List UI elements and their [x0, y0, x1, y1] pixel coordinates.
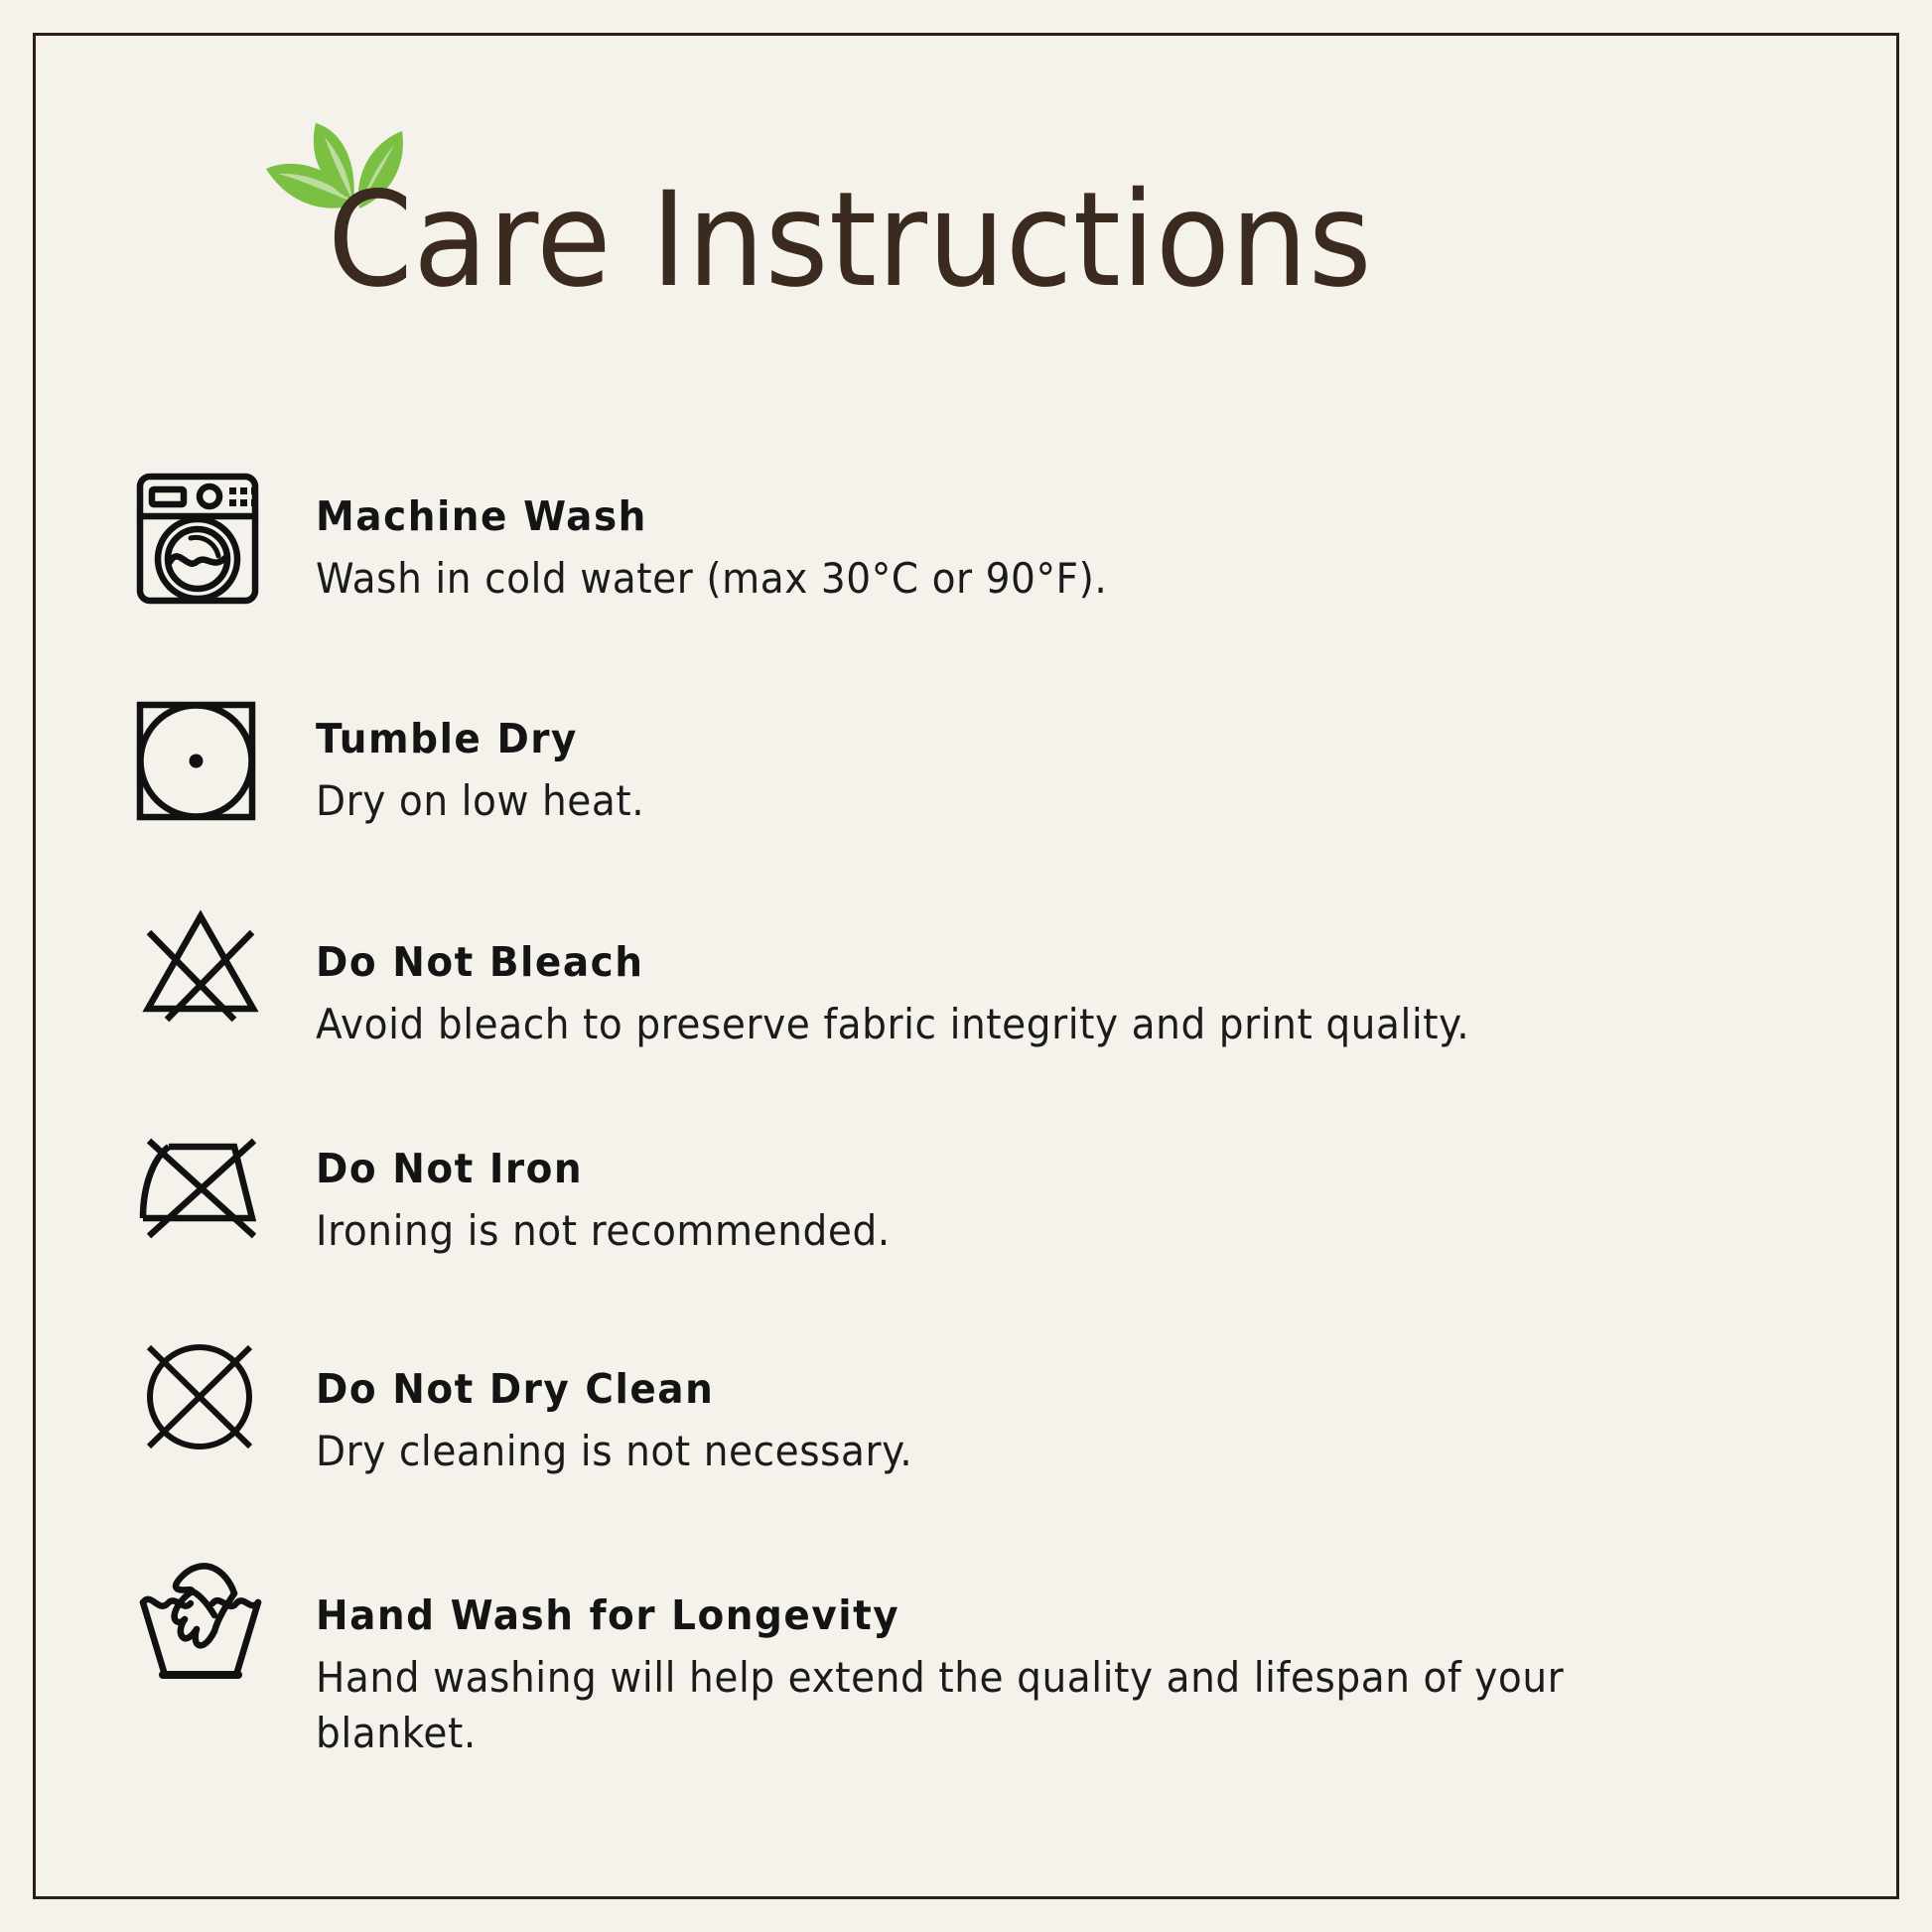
text-cell: Hand Wash for Longevity Hand washing wil… [294, 1552, 1932, 1760]
instruction-heading: Do Not Dry Clean [316, 1367, 1852, 1412]
washing-machine-icon [135, 467, 260, 606]
tumble-dry-icon [135, 699, 260, 828]
text-cell: Tumble Dry Dry on low heat. [294, 695, 1932, 829]
instruction-heading: Hand Wash for Longevity [316, 1593, 1852, 1638]
icon-cell [135, 1335, 294, 1462]
page-title: Care Instructions [328, 175, 1372, 306]
instruction-description: Wash in cold water (max 30°C or 90°F). [316, 551, 1608, 606]
text-cell: Do Not Bleach Avoid bleach to preserve f… [294, 908, 1932, 1052]
instruction-row: Machine Wash Wash in cold water (max 30°… [0, 467, 1932, 695]
do-not-dry-clean-icon [135, 1335, 266, 1462]
instruction-row: Hand Wash for Longevity Hand washing wil… [0, 1552, 1932, 1780]
icon-cell [135, 1556, 294, 1693]
instruction-description: Dry cleaning is not necessary. [316, 1424, 1608, 1478]
instruction-heading: Tumble Dry [316, 717, 1852, 761]
instruction-description: Avoid bleach to preserve fabric integrit… [316, 997, 1608, 1051]
icon-cell [135, 467, 294, 606]
icon-cell [135, 1129, 294, 1250]
icon-cell [135, 699, 294, 828]
instruction-row: Do Not Dry Clean Dry cleaning is not nec… [0, 1335, 1932, 1552]
do-not-iron-icon [135, 1129, 266, 1250]
instruction-description: Hand washing will help extend the qualit… [316, 1650, 1608, 1760]
care-instructions-card: Care Instructions [0, 0, 1932, 1932]
instruction-description: Ironing is not recommended. [316, 1203, 1608, 1258]
instruction-heading: Do Not Bleach [316, 940, 1852, 985]
instruction-row: Do Not Iron Ironing is not recommended. [0, 1125, 1932, 1335]
instruction-row: Do Not Bleach Avoid bleach to preserve f… [0, 908, 1932, 1125]
text-cell: Machine Wash Wash in cold water (max 30°… [294, 467, 1932, 607]
text-cell: Do Not Iron Ironing is not recommended. [294, 1125, 1932, 1259]
instruction-row: Tumble Dry Dry on low heat. [0, 695, 1932, 908]
instruction-heading: Do Not Iron [316, 1147, 1852, 1191]
instruction-list: Machine Wash Wash in cold water (max 30°… [0, 467, 1932, 1780]
header: Care Instructions [0, 117, 1932, 326]
text-cell: Do Not Dry Clean Dry cleaning is not nec… [294, 1335, 1932, 1479]
do-not-bleach-icon [135, 908, 266, 1035]
instruction-heading: Machine Wash [316, 494, 1852, 539]
instruction-description: Dry on low heat. [316, 773, 1608, 828]
icon-cell [135, 908, 294, 1035]
hand-wash-icon [135, 1556, 266, 1693]
